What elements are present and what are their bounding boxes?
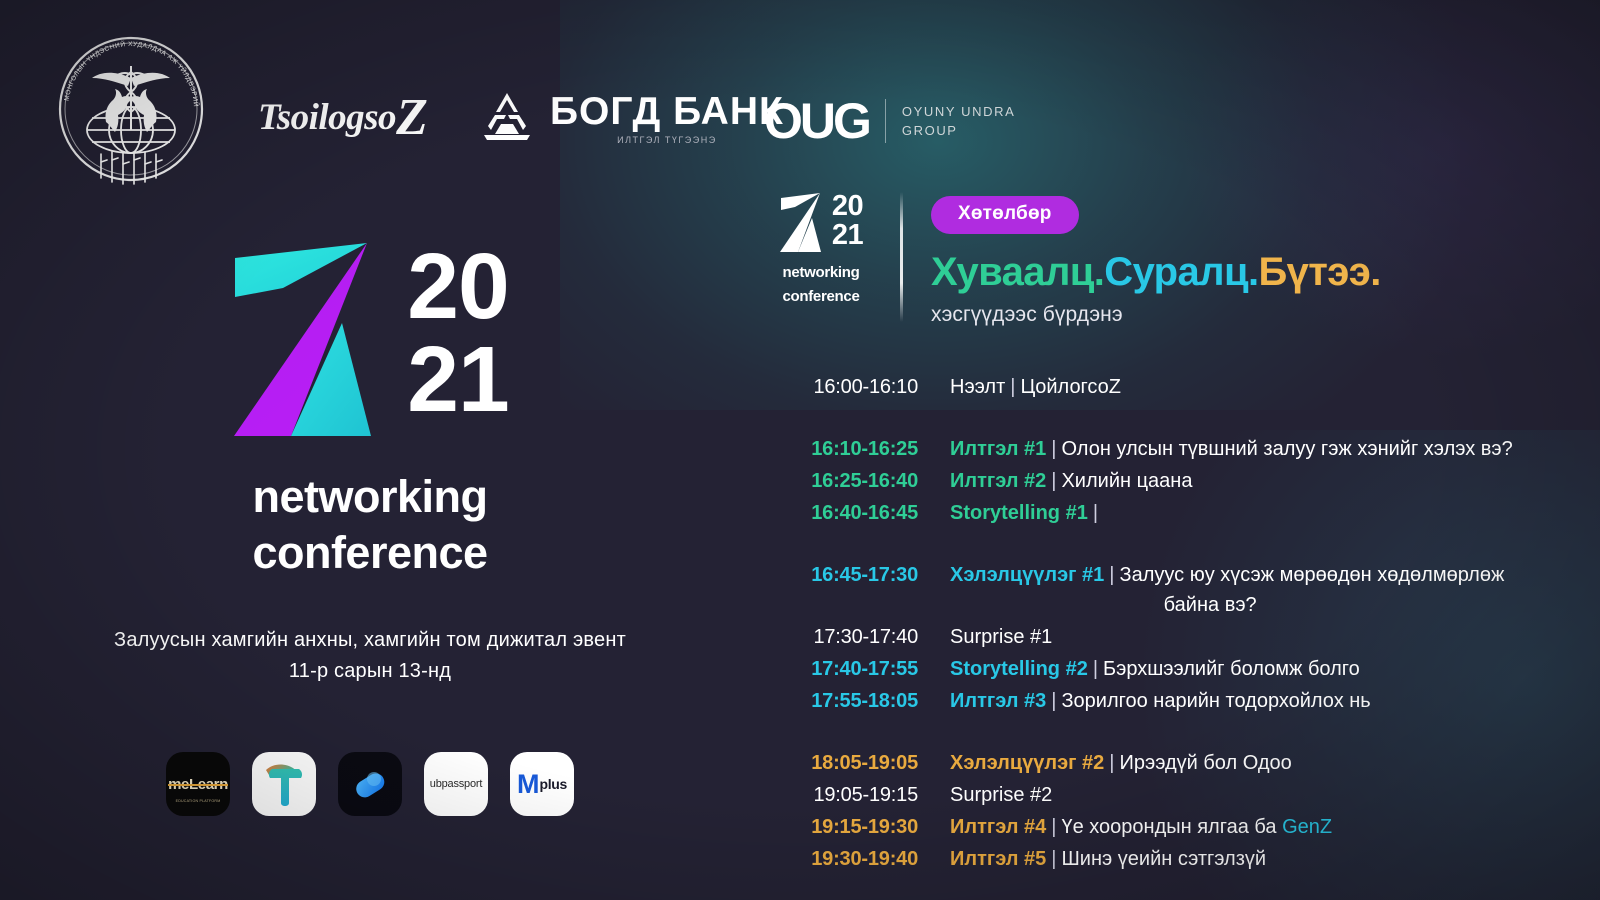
slogan-part2: Суралц. [1104,250,1258,294]
melearn-label: meLearn [168,776,228,793]
slogan-part3: Бүтээ. [1258,250,1380,294]
agenda-detail: Илтгэл #1|Олон улсын түвшний залуу гэж х… [950,434,1513,464]
agenda-time: 16:00-16:10 [760,372,918,402]
mplus-plus-label: plus [539,776,567,792]
mncci-emblem-icon: МОНГОЛЫН ҮНДЭСНИЙ ХУДАЛДАА АЖ ҮЙЛДВЭРИЙН… [48,26,214,192]
agenda-label: Хэлэлцүүлэг #2 [950,752,1104,774]
agenda-text: ЦойлогсоZ [1020,376,1121,398]
agenda-label: Нээлт [950,376,1005,398]
partner-icon-capsule[interactable] [338,752,402,816]
mini-year-top: 20 [832,192,863,221]
mini-year-bottom: 21 [832,221,863,250]
agenda-gap [760,528,1590,560]
agenda-gap [760,402,1590,434]
agenda-detail: Surprise #1 [950,622,1052,652]
agenda-detail: Илтгэл #3|Зорилгоо нарийн тодорхойлох нь [950,686,1371,716]
agenda-detail: Нээлт|ЦойлогсоZ [950,372,1121,402]
agenda-pipe: | [1010,376,1015,398]
partner-icon-melearn[interactable]: meLearn EDUCATION PLATFORM [166,752,230,816]
poster-canvas: МОНГОЛЫН ҮНДЭСНИЙ ХУДАЛДАА АЖ ҮЙЛДВЭРИЙН… [0,0,1600,900]
agenda-time: 18:05-19:05 [760,748,918,778]
agenda-pipe: | [1051,816,1056,838]
agenda-group: 16:45-17:30 Хэлэлцүүлэг #1|Залуус юу хүс… [760,560,1590,716]
agenda-row: 16:45-17:30 Хэлэлцүүлэг #1|Залуус юу хүс… [760,560,1590,620]
agenda-time: 19:15-19:30 [760,812,918,842]
program-badge: Хөтөлбөр [931,196,1079,234]
agenda-detail: Хэлэлцүүлэг #2|Ирээдүй бол Одоо [950,748,1292,778]
agenda-row: 17:55-18:05 Илтгэл #3|Зорилгоо нарийн то… [760,686,1590,716]
panel-header: 20 21 networking conference Хөтөлбөр Хув… [766,192,1381,327]
agenda-detail: Илтгэл #5|Шинэ үеийн сэтгэлзүй [950,844,1266,874]
agenda-text: Бэрхшээлийг боломж болго [1103,658,1360,680]
agenda-label: Илтгэл #4 [950,816,1046,838]
agenda-row: 17:40-17:55 Storytelling #2|Бэрхшээлийг … [760,654,1590,684]
agenda-row: 16:00-16:10 Нээлт|ЦойлогсоZ [760,372,1590,402]
agenda-pipe: | [1093,502,1098,524]
agenda-row: 16:10-16:25 Илтгэл #1|Олон улсын түвшний… [760,434,1590,464]
agenda-detail: Хэлэлцүүлэг #1|Залуус юу хүсэж мөрөөдөн … [950,560,1504,620]
agenda-label: Storytelling #2 [950,658,1088,680]
agenda-text: Хилийн цаана [1061,470,1192,492]
agenda-accent-genz: GenZ [1282,816,1332,838]
panel-header-text: Хөтөлбөр Хуваалц.Суралц.Бүтээ. хэсгүүдээ… [931,192,1381,327]
agenda-time: 17:30-17:40 [760,622,918,652]
hero-tagline-line2: 11-р сарын 13-нд [0,656,740,687]
capsule-icon [347,761,393,807]
agenda-pipe: | [1051,470,1056,492]
agenda-row: 16:25-16:40 Илтгэл #2|Хилийн цаана [760,466,1590,496]
agenda-label: Илтгэл #5 [950,848,1046,870]
slogan: Хуваалц.Суралц.Бүтээ. [931,248,1381,296]
agenda-pipe: | [1109,752,1114,774]
ubpassport-label: ubpassport [430,778,482,790]
agenda-pipe: | [1093,658,1098,680]
agenda-time: 19:30-19:40 [760,844,918,874]
agenda-list: 16:00-16:10 Нээлт|ЦойлогсоZ 16:10-16:25 … [760,372,1590,900]
mplus-m-label: M [517,771,540,798]
agenda-group: 16:10-16:25 Илтгэл #1|Олон улсын түвшний… [760,434,1590,528]
tsoilogso-wordmark: Tsoilogso [258,97,396,138]
agenda-gap [760,716,1590,748]
agenda-label: Хэлэлцүүлэг #1 [950,564,1104,586]
partner-icon-ubpassport[interactable]: ubpassport [424,752,488,816]
tsoilogso-logo: TsoilogsoZ [258,96,458,152]
agenda-group: 18:05-19:05 Хэлэлцүүлэг #2|Ирээдүй бол О… [760,748,1590,874]
agenda-time: 16:25-16:40 [760,466,918,496]
mini-sub-line1: networking [766,263,876,282]
agenda-label: Surprise #2 [950,784,1052,806]
hero-year-bottom: 21 [407,333,508,426]
agenda-label: Илтгэл #3 [950,690,1046,712]
mini-z-logo-icon [779,192,827,258]
agenda-detail: Storytelling #1| [950,498,1103,528]
agenda-gap [760,874,1590,900]
agenda-detail: Storytelling #2|Бэрхшээлийг боломж болго [950,654,1360,684]
hero-subtitle-line2: conference [0,525,740,581]
agenda-pipe: | [1051,438,1056,460]
hero-subtitle-line1: networking [0,469,740,525]
agenda-row: 19:05-19:15 Surprise #2 [760,780,1590,810]
agenda-label: Илтгэл #1 [950,438,1046,460]
slogan-part1: Хуваалц. [931,250,1104,294]
agenda-panel: 20 21 networking conference Хөтөлбөр Хув… [740,0,1600,900]
hero-year: 20 21 [407,240,508,426]
hero-tagline: Залуусын хамгийн анхны, хамгийн том дижи… [0,625,740,687]
tsoilogso-z-icon: Z [396,89,426,146]
hero-subtitle: networking conference [0,469,740,581]
agenda-text: Ирээдүй бол Одоо [1119,752,1291,774]
agenda-time: 16:40-16:45 [760,498,918,528]
partner-icon-toki[interactable] [252,752,316,816]
agenda-time: 16:45-17:30 [760,560,918,590]
hero-year-top: 20 [407,240,508,333]
bogd-bank-logo: БОГД БАНК ИЛТГЭЛ ТҮГЭЭНЭ [478,90,784,145]
agenda-row: 18:05-19:05 Хэлэлцүүлэг #2|Ирээдүй бол О… [760,748,1590,778]
melearn-sublabel: EDUCATION PLATFORM [166,799,230,803]
agenda-group: 16:00-16:10 Нээлт|ЦойлогсоZ [760,372,1590,402]
agenda-row: 19:30-19:40 Илтгэл #5|Шинэ үеийн сэтгэлз… [760,844,1590,874]
agenda-row: 19:15-19:30 Илтгэл #4|Үе хоорондын ялгаа… [760,812,1590,842]
agenda-detail: Surprise #2 [950,780,1052,810]
agenda-pipe: | [1051,690,1056,712]
toki-t-icon [263,761,305,807]
mini-sub-line2: conference [766,287,876,306]
agenda-row: 17:30-17:40 Surprise #1 [760,622,1590,652]
agenda-text-line2: байна вэ? [950,590,1504,620]
partner-app-row: meLearn EDUCATION PLATFORM [0,752,740,816]
agenda-time: 17:40-17:55 [760,654,918,684]
hero-logo: 20 21 [0,240,740,455]
slogan-subtitle: хэсгүүдээс бүрдэнэ [931,303,1381,327]
agenda-text: Зорилгоо нарийн тодорхойлох нь [1061,690,1370,712]
bogd-triangle-icon [478,91,536,145]
agenda-time: 17:55-18:05 [760,686,918,716]
agenda-time: 19:05-19:15 [760,780,918,810]
agenda-label: Surprise #1 [950,626,1052,648]
hero-block: 20 21 networking conference Залуусын хам… [0,240,740,687]
agenda-time: 16:10-16:25 [760,434,918,464]
z-logo-icon [231,240,391,455]
agenda-text: Шинэ үеийн сэтгэлзүй [1061,848,1266,870]
mini-logo: 20 21 networking conference [766,192,876,306]
agenda-label: Storytelling #1 [950,502,1088,524]
agenda-detail: Илтгэл #4|Үе хоорондын ялгаа ба GenZ [950,812,1332,842]
agenda-pipe: | [1109,564,1114,586]
hero-tagline-line1: Залуусын хамгийн анхны, хамгийн том дижи… [0,625,740,656]
agenda-text: Үе хоорондын ялгаа ба [1061,816,1282,838]
agenda-pipe: | [1051,848,1056,870]
agenda-detail: Илтгэл #2|Хилийн цаана [950,466,1192,496]
agenda-text: Залуус юу хүсэж мөрөөдөн хөдөлмөрлөж [1119,564,1504,586]
partner-icon-mplus[interactable]: M plus [510,752,574,816]
agenda-label: Илтгэл #2 [950,470,1046,492]
agenda-row: 16:40-16:45 Storytelling #1| [760,498,1590,528]
header-divider [900,192,903,322]
agenda-text: Олон улсын түвшний залуу гэж хэнийг хэлэ… [1061,438,1512,460]
